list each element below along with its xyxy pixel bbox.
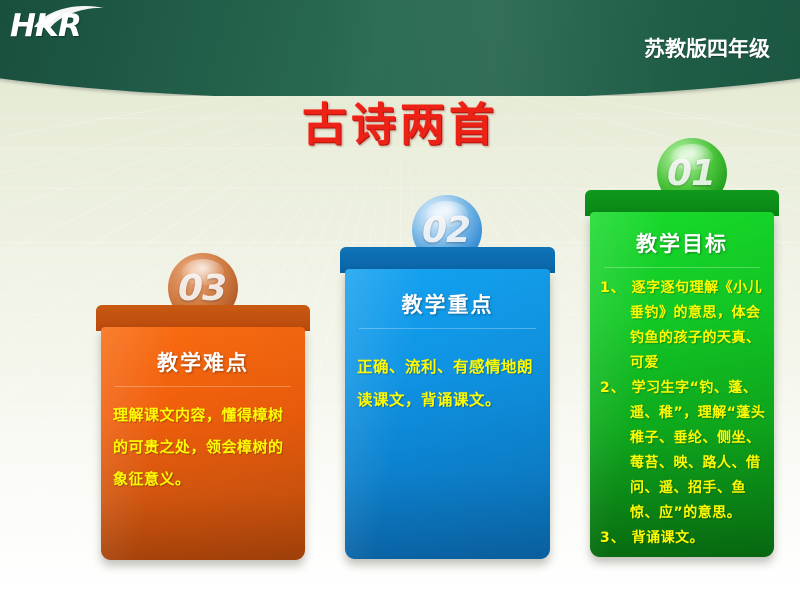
card-teaching-objectives[interactable]: 教学目标 1、 逐字逐句理解《小儿垂钓》的意思，体会钓鱼的孩子的天真、可爱2、 … bbox=[585, 190, 779, 557]
card-face: 教学难点 理解课文内容，懂得樟树的可贵之处，领会樟树的象征意义。 bbox=[101, 327, 305, 560]
card-title: 教学重点 bbox=[345, 291, 550, 319]
card-divider bbox=[359, 328, 536, 329]
objective-item: 3、 背诵课文。 bbox=[600, 526, 766, 551]
card-face: 教学重点 正确、流利、有感情地朗读课文，背诵课文。 bbox=[345, 269, 550, 559]
card-body: 正确、流利、有感情地朗读课文，背诵课文。 bbox=[357, 351, 538, 417]
hkr-logo: HKR bbox=[10, 6, 120, 50]
card-body: 理解课文内容，懂得樟树的可贵之处，领会樟树的象征意义。 bbox=[113, 399, 293, 495]
objective-item: 1、 逐字逐句理解《小儿垂钓》的意思，体会钓鱼的孩子的天真、可爱 bbox=[600, 276, 766, 376]
card-face: 教学目标 1、 逐字逐句理解《小儿垂钓》的意思，体会钓鱼的孩子的天真、可爱2、 … bbox=[590, 212, 774, 557]
objective-index: 1、 bbox=[600, 280, 632, 296]
objective-text: 逐字逐句理解《小儿垂钓》的意思，体会钓鱼的孩子的天真、可爱 bbox=[630, 280, 762, 371]
course-label: 苏教版四年级 bbox=[550, 36, 800, 62]
objective-text: 学习生字“钓、蓬、遥、稚”，理解“蓬头稚子、垂纶、侧坐、莓苔、映、路人、借问、遥… bbox=[630, 380, 765, 521]
slide-canvas: HKR 苏教版四年级 古诗两首 03 教学难点 理解课文内容，懂得樟树的可贵之处… bbox=[0, 0, 800, 596]
objective-index: 3、 bbox=[600, 530, 632, 546]
objective-text: 背诵课文。 bbox=[632, 530, 705, 546]
card-body-paragraph: 理解课文内容，懂得樟树的可贵之处，领会樟树的象征意义。 bbox=[113, 399, 293, 495]
logo-swoosh-icon bbox=[32, 4, 114, 30]
card-body-paragraph: 正确、流利、有感情地朗读课文，背诵课文。 bbox=[357, 351, 538, 417]
objective-index: 2、 bbox=[600, 380, 632, 396]
objective-item: 2、 学习生字“钓、蓬、遥、稚”，理解“蓬头稚子、垂纶、侧坐、莓苔、映、路人、借… bbox=[600, 376, 766, 526]
card-divider bbox=[604, 267, 760, 268]
card-divider bbox=[115, 386, 291, 387]
card-teaching-focus[interactable]: 教学重点 正确、流利、有感情地朗读课文，背诵课文。 bbox=[340, 247, 555, 559]
card-title: 教学目标 bbox=[590, 230, 774, 258]
card-teaching-difficulty[interactable]: 教学难点 理解课文内容，懂得樟树的可贵之处，领会樟树的象征意义。 bbox=[96, 305, 310, 560]
card-body: 1、 逐字逐句理解《小儿垂钓》的意思，体会钓鱼的孩子的天真、可爱2、 学习生字“… bbox=[600, 276, 766, 551]
card-title: 教学难点 bbox=[101, 349, 305, 377]
